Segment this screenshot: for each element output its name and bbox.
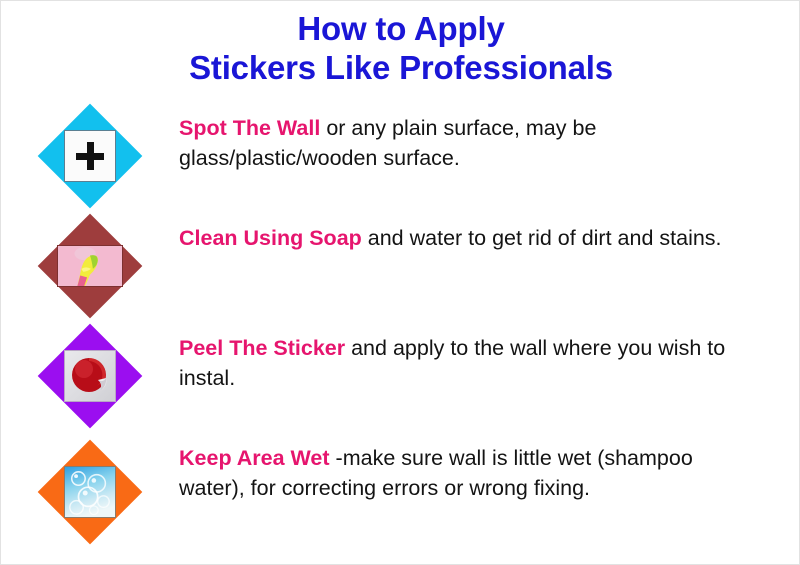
sponge-cleaning-diamond-icon: [38, 214, 142, 318]
step-lead-label: Spot The Wall: [179, 116, 320, 140]
title-line-2: Stickers Like Professionals: [1, 48, 800, 87]
step-body-text: and water to get rid of dirt and stains.: [362, 226, 722, 250]
step-lead-label: Keep Area Wet: [179, 446, 330, 470]
page-title: How to Apply Stickers Like Professionals: [1, 9, 800, 87]
step-row: Spot The Wall or any plain surface, may …: [1, 101, 800, 211]
step-lead-label: Peel The Sticker: [179, 336, 345, 360]
red-peeling-sticker-photo: [64, 350, 116, 402]
plus-icon: [73, 139, 107, 173]
peeling-sticker-icon: [67, 353, 113, 399]
step-icon-cell: [1, 321, 179, 431]
sponge-icon: [58, 246, 122, 286]
step-text-cell: Keep Area Wet -make sure wall is little …: [179, 431, 800, 503]
step-description: Clean Using Soap and water to get rid of…: [179, 223, 761, 253]
bubbles-icon: [65, 467, 115, 517]
infographic-page: How to Apply Stickers Like Professionals…: [0, 0, 800, 565]
step-description: Keep Area Wet -make sure wall is little …: [179, 443, 761, 503]
plus-icon-tile: [64, 130, 116, 182]
step-row: Clean Using Soap and water to get rid of…: [1, 211, 800, 321]
step-text-cell: Spot The Wall or any plain surface, may …: [179, 101, 800, 173]
peeling-sticker-diamond-icon: [38, 324, 142, 428]
step-lead-label: Clean Using Soap: [179, 226, 362, 250]
step-text-cell: Peel The Sticker and apply to the wall w…: [179, 321, 800, 393]
cleaning-sponge-photo: [57, 245, 123, 287]
step-description: Spot The Wall or any plain surface, may …: [179, 113, 761, 173]
water-bubbles-diamond-icon: [38, 440, 142, 544]
step-row: Keep Area Wet -make sure wall is little …: [1, 431, 800, 561]
step-icon-cell: [1, 431, 179, 553]
water-bubbles-photo: [64, 466, 116, 518]
plus-sign-diamond-icon: [38, 104, 142, 208]
step-row: Peel The Sticker and apply to the wall w…: [1, 321, 800, 431]
step-icon-cell: [1, 101, 179, 211]
title-line-1: How to Apply: [1, 9, 800, 48]
step-icon-cell: [1, 211, 179, 321]
step-description: Peel The Sticker and apply to the wall w…: [179, 333, 761, 393]
steps-list: Spot The Wall or any plain surface, may …: [1, 101, 800, 561]
step-text-cell: Clean Using Soap and water to get rid of…: [179, 211, 800, 253]
